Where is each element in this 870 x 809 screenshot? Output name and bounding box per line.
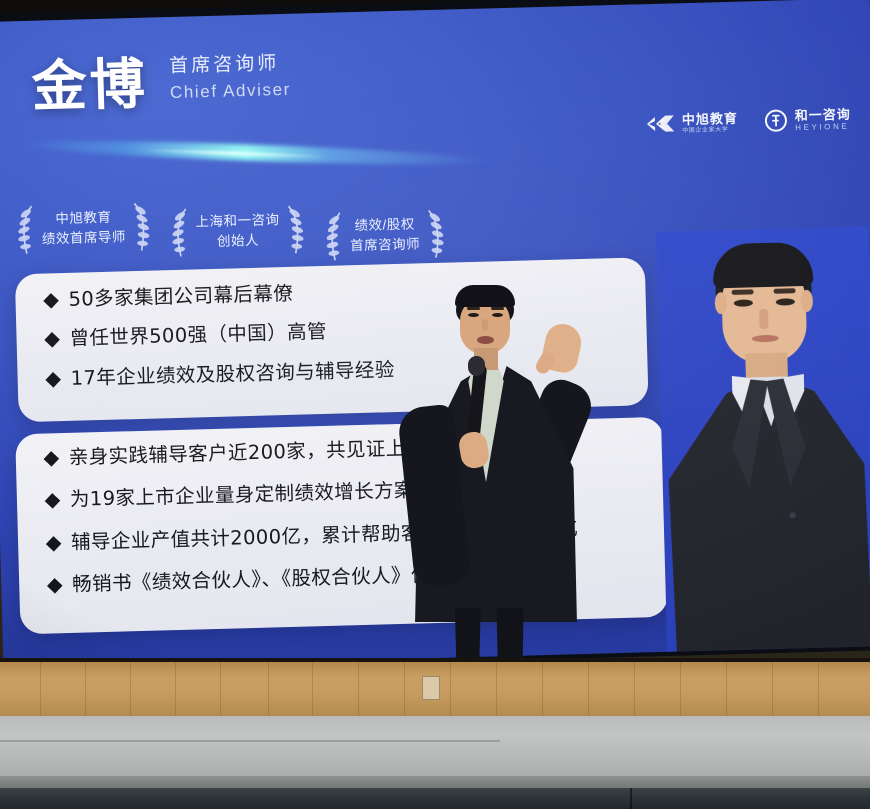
speaker-role-cn: 首席咨询师 — [169, 52, 291, 79]
diamond-bullet-icon — [45, 493, 61, 509]
floor-seam — [0, 740, 500, 742]
diamond-bullet-icon — [45, 372, 61, 388]
slide-title-row: 金博 首席咨询师 Chief Adviser — [31, 52, 291, 115]
credentials-row: 中旭教育 绩效首席导师 — [5, 174, 567, 271]
credential-line2: 绩效首席导师 — [42, 227, 126, 249]
logo-heyione-name: 和一咨询 — [795, 107, 851, 122]
credential-item: 上海和一咨询 创始人 — [169, 203, 306, 259]
diamond-bullet-icon — [44, 332, 60, 348]
diamond-bullet-icon — [46, 536, 62, 552]
laurel-left-icon — [15, 204, 42, 257]
diamond-bullet-icon — [47, 578, 63, 594]
stage-front-seam — [630, 788, 632, 809]
diamond-bullet-icon — [44, 451, 60, 467]
laurel-right-icon — [125, 201, 152, 254]
credential-line2: 创始人 — [196, 230, 280, 252]
stage-presentation-photo: 金博 首席咨询师 Chief Adviser 中旭教育 — [0, 0, 870, 809]
bullet-text: 17年企业绩效及股权咨询与辅导经验 — [70, 357, 395, 392]
bullet-text: 为19家上市企业量身定制绩效增长方案 — [70, 478, 415, 514]
logo-zhongxu-sub: 中国企业家大学 — [682, 126, 738, 134]
chevrons-logo-icon — [645, 113, 676, 134]
laurel-right-icon — [419, 208, 446, 261]
speaker-portrait-photo — [656, 226, 870, 664]
bullet-text: 畅销书《绩效合伙人》、《股权合伙人》作者 — [72, 562, 451, 599]
laurel-right-icon — [279, 203, 306, 256]
credential-line1: 上海和一咨询 — [195, 211, 279, 233]
logo-zhongxu-name: 中旭教育 — [682, 111, 738, 126]
credential-line1: 中旭教育 — [41, 208, 125, 230]
wall-power-outlet — [422, 676, 440, 700]
diamond-bullet-icon — [43, 293, 59, 309]
credential-text: 绩效/股权 首席咨询师 — [349, 215, 420, 256]
credential-item: 中旭教育 绩效首席导师 — [15, 201, 152, 257]
laurel-left-icon — [169, 206, 196, 259]
circle-f-logo-icon — [764, 108, 789, 133]
bullet-text: 50多家集团公司幕后幕僚 — [68, 281, 293, 313]
speaker-role-en: Chief Adviser — [170, 79, 292, 105]
credential-line2: 首席咨询师 — [350, 234, 421, 255]
credential-text: 上海和一咨询 创始人 — [195, 211, 280, 252]
laurel-left-icon — [323, 210, 350, 263]
logo-heyione-en: HEYIONE — [795, 122, 851, 132]
logo-zhongxu: 中旭教育 中国企业家大学 — [645, 111, 739, 135]
stage-floor — [0, 716, 870, 778]
stage-front-panel — [0, 788, 870, 809]
credential-text: 中旭教育 绩效首席导师 — [41, 208, 126, 249]
credential-line1: 绩效/股权 — [349, 215, 420, 236]
brand-logo-row: 中旭教育 中国企业家大学 和一咨询 HEYIONE — [645, 107, 852, 137]
credential-item: 绩效/股权 首席咨询师 — [323, 208, 446, 263]
bullet-text: 曾任世界500强（中国）高管 — [69, 319, 327, 352]
speaker-name: 金博 — [31, 56, 148, 114]
logo-heyione: 和一咨询 HEYIONE — [764, 107, 852, 133]
